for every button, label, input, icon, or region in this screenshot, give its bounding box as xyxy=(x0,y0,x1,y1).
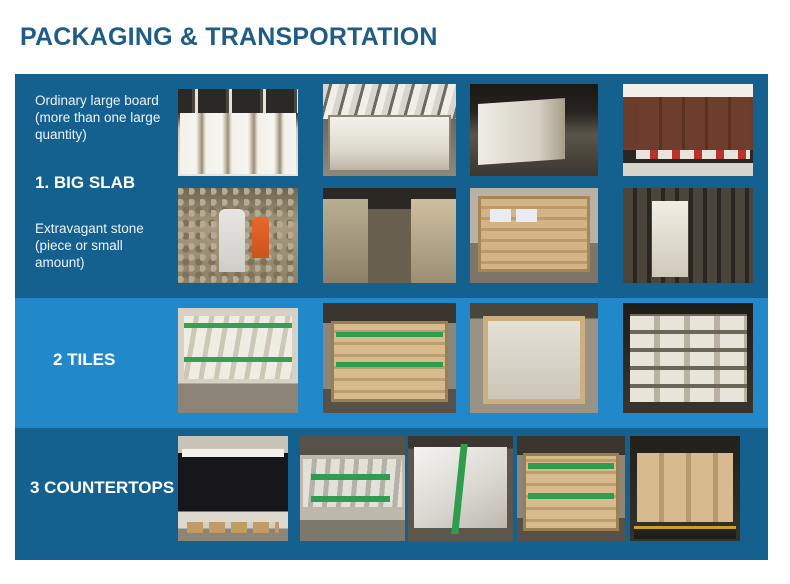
granite-slab-inspection-photo xyxy=(178,188,298,283)
photo-surface xyxy=(178,188,298,283)
label-col-extravagant-stone: Extravagant stone (piece or small amount… xyxy=(15,186,175,298)
row-big-slab-ordinary: Ordinary large board (more than one larg… xyxy=(15,74,768,186)
black-countertop-bundle-photo xyxy=(178,436,288,541)
row-big-slab-extravagant: Extravagant stone (piece or small amount… xyxy=(15,186,768,298)
caption-extravagant-stone: Extravagant stone (piece or small amount… xyxy=(35,220,175,271)
photo-surface xyxy=(323,303,456,413)
photo-surface xyxy=(470,84,598,176)
tile-crate-wrapped-photo xyxy=(470,303,598,413)
photo-surface xyxy=(630,436,740,541)
tile-crates-pallet-photo xyxy=(323,303,456,413)
heading-countertops: 3 COUNTERTOPS xyxy=(30,478,180,498)
truck-bed-slabs-photo xyxy=(470,84,598,176)
label-col-big-slab-ordinary: Ordinary large board (more than one larg… xyxy=(15,74,175,186)
photo-surface xyxy=(408,436,513,541)
photo-surface xyxy=(517,436,625,541)
photo-surface xyxy=(623,188,753,283)
grey-countertop-bundle-photo xyxy=(300,436,405,541)
page-title: PACKAGING & TRANSPORTATION xyxy=(20,23,438,52)
photo-surface xyxy=(470,303,598,413)
photo-surface xyxy=(470,188,598,283)
row-tiles: 2 TILES xyxy=(15,298,768,428)
container-tiles-loaded-photo xyxy=(623,303,753,413)
warehouse-slab-bundles-photo xyxy=(323,84,456,176)
photo-surface xyxy=(323,188,456,283)
caption-ordinary-large-board: Ordinary large board (more than one larg… xyxy=(35,92,175,143)
wooden-crate-countertops-photo xyxy=(517,436,625,541)
photo-surface xyxy=(178,436,288,541)
wooden-crates-slabs-photo xyxy=(470,188,598,283)
packaging-panel: Ordinary large board (more than one larg… xyxy=(15,74,768,560)
row-countertops: 3 COUNTERTOPS xyxy=(15,428,768,560)
tile-pallet-strapped-photo xyxy=(178,308,298,413)
photo-surface xyxy=(623,84,753,176)
container-countertops-loaded-photo xyxy=(630,436,740,541)
slide-root: PACKAGING & TRANSPORTATION Ordinary larg… xyxy=(0,0,790,584)
photo-surface xyxy=(300,436,405,541)
wrapped-countertop-bundle-photo xyxy=(408,436,513,541)
label-col-countertops: 3 COUNTERTOPS xyxy=(15,428,175,560)
container-loading-crate-photo xyxy=(623,188,753,283)
container-rear-doors-photo xyxy=(623,84,753,176)
photo-surface xyxy=(623,303,753,413)
slab-aisle-worker-photo xyxy=(323,188,456,283)
photo-surface xyxy=(178,89,298,176)
photo-surface xyxy=(323,84,456,176)
label-col-tiles: 2 TILES xyxy=(15,298,175,428)
warehouse-white-slabs-photo xyxy=(178,89,298,176)
photo-surface xyxy=(178,308,298,413)
